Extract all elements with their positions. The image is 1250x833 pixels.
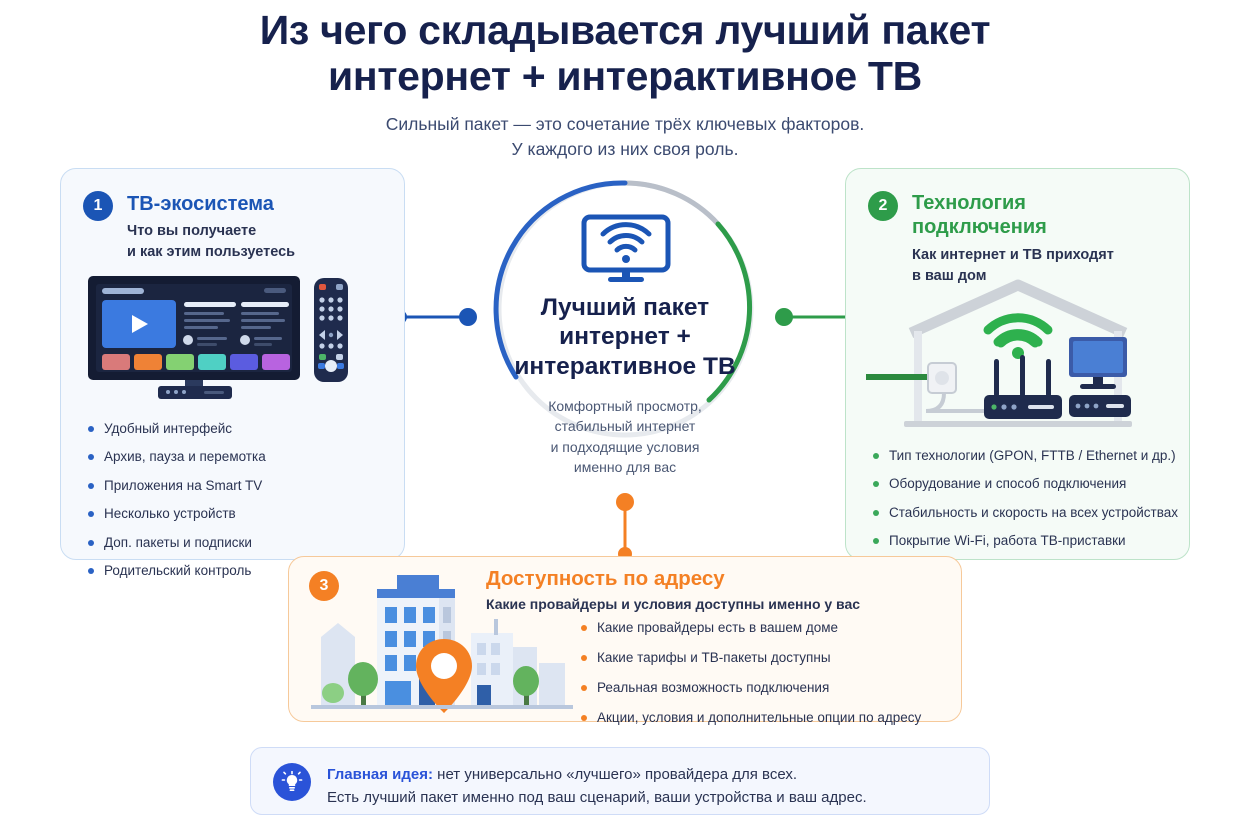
center-description: Комфортный просмотр, стабильный интернет… [492,396,758,478]
center-desc-line-3: и подходящие условия [492,437,758,457]
card-address-availability[interactable]: 3 Доступность по адресу Какие провайдеры… [288,556,962,722]
center-heading-line-2: интернет + [492,322,758,351]
house-router-tv-illustration [866,277,1171,435]
card-1-title: ТВ-экосистема [127,192,274,216]
key-idea-lead: Главная идея: [327,766,433,783]
list-item: Реальная возможность подключения [579,679,921,697]
title-line-1: Из чего складывается лучший пакет [0,8,1250,54]
connector-center-to-card3 [612,492,638,564]
tv-with-remote-illustration [86,274,361,399]
list-item: Родительский контроль [86,562,266,580]
center-desc-line-1: Комфортный просмотр, [492,396,758,416]
card-2-title: Технология подключения [912,191,1112,239]
card-2-title-line-2: подключения [912,215,1112,239]
card-1-subtitle: Что вы получаете и как этим пользуетесь [127,221,295,262]
center-heading-line-1: Лучший пакет [492,293,758,322]
list-item: Покрытие Wi-Fi, работа ТВ-приставки [871,532,1178,550]
list-item: Акции, условия и дополнительные опции по… [579,709,921,727]
card-2-bullets: Тип технологии (GPON, FTTB / Ethernet и … [871,447,1178,561]
card-connection-technology[interactable]: 2 Технология подключения Как интернет и … [845,168,1190,560]
card-2-title-line-1: Технология [912,191,1112,215]
list-item: Несколько устройств [86,505,266,523]
center-heading-line-3: интерактивное ТВ [492,352,758,381]
card-1-subtitle-line-2: и как этим пользуетесь [127,242,295,263]
card-2-subtitle-line-1: Как интернет и ТВ приходят [912,245,1162,266]
list-item: Какие провайдеры есть в вашем доме [579,619,921,637]
list-item: Доп. пакеты и подписки [86,534,266,552]
key-idea-line-1: Главная идея: нет универсально «лучшего»… [327,763,867,786]
key-idea-rest: нет универсально «лучшего» провайдера дл… [433,766,797,783]
center-heading: Лучший пакет интернет + интерактивное ТВ [492,293,758,381]
card-tv-ecosystem[interactable]: 1 ТВ-экосистема Что вы получаете и как э… [60,168,405,560]
title-line-2: интернет + интерактивное ТВ [0,54,1250,100]
infographic-root: Из чего складывается лучший пакет интерн… [0,0,1250,833]
card-1-subtitle-line-1: Что вы получаете [127,221,295,242]
list-item: Приложения на Smart TV [86,477,266,495]
card-1-badge: 1 [83,191,113,221]
page-subtitle: Сильный пакет — это сочетание трёх ключе… [0,112,1250,162]
card-1-bullets: Удобный интерфейс Архив, пауза и перемот… [86,420,266,591]
center-desc-line-2: стабильный интернет [492,416,758,436]
key-idea-banner: Главная идея: нет универсально «лучшего»… [250,747,990,815]
lightbulb-icon [273,763,311,801]
key-idea-line-2: Есть лучший пакет именно под ваш сценари… [327,786,867,809]
card-2-badge: 2 [868,191,898,221]
page-title: Из чего складывается лучший пакет интерн… [0,8,1250,100]
key-idea-text: Главная идея: нет универсально «лучшего»… [327,763,867,810]
list-item: Стабильность и скорость на всех устройст… [871,504,1178,522]
subtitle-line-2: У каждого из них своя роль. [0,137,1250,162]
list-item: Тип технологии (GPON, FTTB / Ethernet и … [871,447,1178,465]
list-item: Удобный интерфейс [86,420,266,438]
center-desc-line-4: именно для вас [492,457,758,477]
list-item: Оборудование и способ подключения [871,475,1178,493]
list-item: Какие тарифы и ТВ-пакеты доступны [579,649,921,667]
card-3-bullets: Какие провайдеры есть в вашем доме Какие… [579,619,921,739]
tv-wifi-icon [580,214,672,284]
connector-card1-to-center [392,305,482,329]
subtitle-line-1: Сильный пакет — это сочетание трёх ключе… [0,112,1250,137]
city-map-pin-illustration [311,567,573,713]
list-item: Архив, пауза и перемотка [86,448,266,466]
